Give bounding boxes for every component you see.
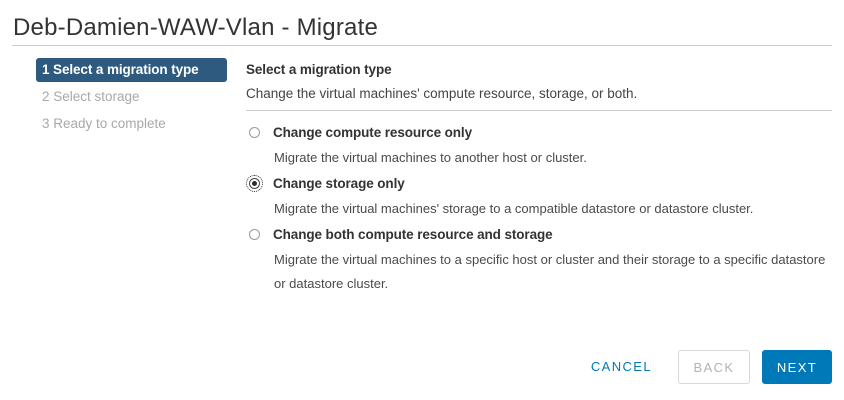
main-divider [246,110,832,111]
option-label-compute-only: Change compute resource only [273,122,472,144]
option-change-both-compute-and-storage[interactable]: Change both compute resource and storage… [246,224,832,296]
title-divider [12,45,832,46]
option-description-storage-only: Migrate the virtual machines' storage to… [274,197,832,221]
radio-icon-compute-only[interactable] [249,127,260,138]
back-button: BACK [678,350,750,384]
radio-icon-both[interactable] [249,229,260,240]
sidebar-step-ready-to-complete[interactable]: 3 Ready to complete [36,112,231,136]
option-label-both: Change both compute resource and storage [273,224,553,246]
main-subheading: Change the virtual machines' compute res… [246,86,832,101]
option-description-compute-only: Migrate the virtual machines to another … [274,146,832,170]
wizard-step-list: 1 Select a migration type 2 Select stora… [36,58,231,139]
main-heading: Select a migration type [246,62,832,77]
option-label-storage-only: Change storage only [273,173,405,195]
next-button[interactable]: NEXT [762,350,832,384]
main-panel: Select a migration type Change the virtu… [246,62,832,299]
cancel-button[interactable]: CANCEL [577,351,666,383]
option-change-storage-only[interactable]: Change storage only Migrate the virtual … [246,173,832,221]
page-title: Deb-Damien-WAW-Vlan - Migrate [13,14,378,42]
sidebar-step-select-migration-type[interactable]: 1 Select a migration type [36,58,227,82]
radio-icon-storage-only[interactable] [249,178,260,189]
migration-type-radio-group: Change compute resource only Migrate the… [246,122,832,296]
option-description-both: Migrate the virtual machines to a specif… [274,248,832,296]
sidebar-step-select-storage[interactable]: 2 Select storage [36,85,231,109]
wizard-footer: CANCEL BACK NEXT [0,350,832,384]
option-change-compute-resource-only[interactable]: Change compute resource only Migrate the… [246,122,832,170]
